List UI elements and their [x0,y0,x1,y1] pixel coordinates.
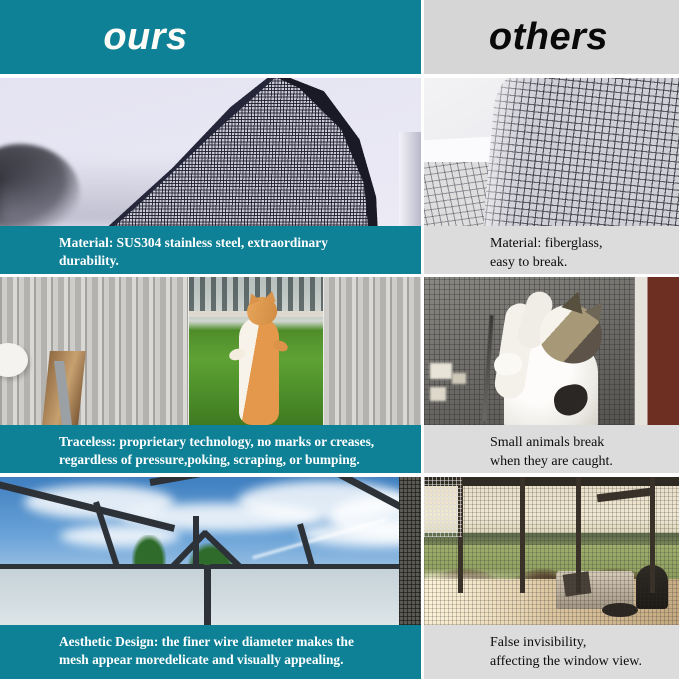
caption-line: Material: SUS304 stainless steel, extrao… [59,234,407,252]
cat-body [239,317,279,425]
fine-mesh-panel [399,477,421,625]
window-view-panel [188,277,324,425]
header-title-ours: ours [103,18,317,56]
caption-line: when they are caught. [490,452,669,471]
living-room-window-mesh-photo [424,477,679,625]
orange-tabby-cat [233,291,285,425]
steel-mesh-cone-photo [0,78,421,226]
mesh-corner-highlight [424,477,462,537]
conservatory-glass-roof-photo [0,477,421,625]
caption-line: mesh appear moredelicate and visually ap… [59,651,407,669]
visible-mesh-overlay [424,477,679,625]
comparison-infographic: ours others Material: SUS304 stainless s… [0,0,679,679]
background-strip [399,132,421,226]
comparison-row-traceless: Traceless: proprietary technology, no ma… [0,277,679,473]
window-light-patch [452,373,466,384]
caption-line: Small animals break [490,433,669,452]
corner-post [204,565,211,625]
caption-others-material: Material: fiberglass, easy to break. [424,226,679,274]
cell-others-aesthetic: False invisibility, affecting the window… [424,477,679,679]
calico-cat [498,285,622,425]
caption-ours-traceless: Traceless: proprietary technology, no ma… [0,425,421,473]
caption-others-traceless: Small animals break when they are caught… [424,425,679,473]
window-light-patch [430,387,446,401]
header-cell-ours: ours [0,0,421,74]
wall-panel [210,564,406,625]
comparison-row-material: Material: SUS304 stainless steel, extrao… [0,78,679,274]
cell-others-material: Material: fiberglass, easy to break. [424,78,679,274]
cat-clawing-torn-screen-photo [424,277,679,425]
mesh-roll [483,78,679,226]
comparison-header: ours others [0,0,679,74]
door-frame [635,277,679,425]
header-title-others: others [489,18,614,56]
caption-line: regardless of pressure,poking, scraping,… [59,451,407,469]
cell-ours-aesthetic: Aesthetic Design: the finer wire diamete… [0,477,421,679]
caption-others-aesthetic: False invisibility, affecting the window… [424,625,679,679]
curtain-cat-standing-photo [0,277,421,425]
comparison-row-aesthetic: Aesthetic Design: the finer wire diamete… [0,477,679,679]
caption-line: easy to break. [490,253,669,272]
curtain-right [322,277,421,425]
caption-line: Aesthetic Design: the finer wire diamete… [59,633,407,651]
cell-ours-material: Material: SUS304 stainless steel, extrao… [0,78,421,274]
wall-panel [0,564,204,625]
caption-line: False invisibility, [490,633,669,652]
caption-line: affecting the window view. [490,652,669,671]
caption-ours-material: Material: SUS304 stainless steel, extrao… [0,226,421,274]
curtain-left [0,277,188,425]
header-cell-others: others [424,0,679,74]
caption-line: Material: fiberglass, [490,234,669,253]
caption-line: durability. [59,252,407,270]
cell-others-traceless: Small animals break when they are caught… [424,277,679,473]
cell-ours-traceless: Traceless: proprietary technology, no ma… [0,277,421,473]
fiberglass-mesh-roll-photo [424,78,679,226]
caption-ours-aesthetic: Aesthetic Design: the finer wire diamete… [0,625,421,679]
caption-line: Traceless: proprietary technology, no ma… [59,433,407,451]
window-light-patch [430,363,452,379]
cat-ear-right [264,290,278,302]
